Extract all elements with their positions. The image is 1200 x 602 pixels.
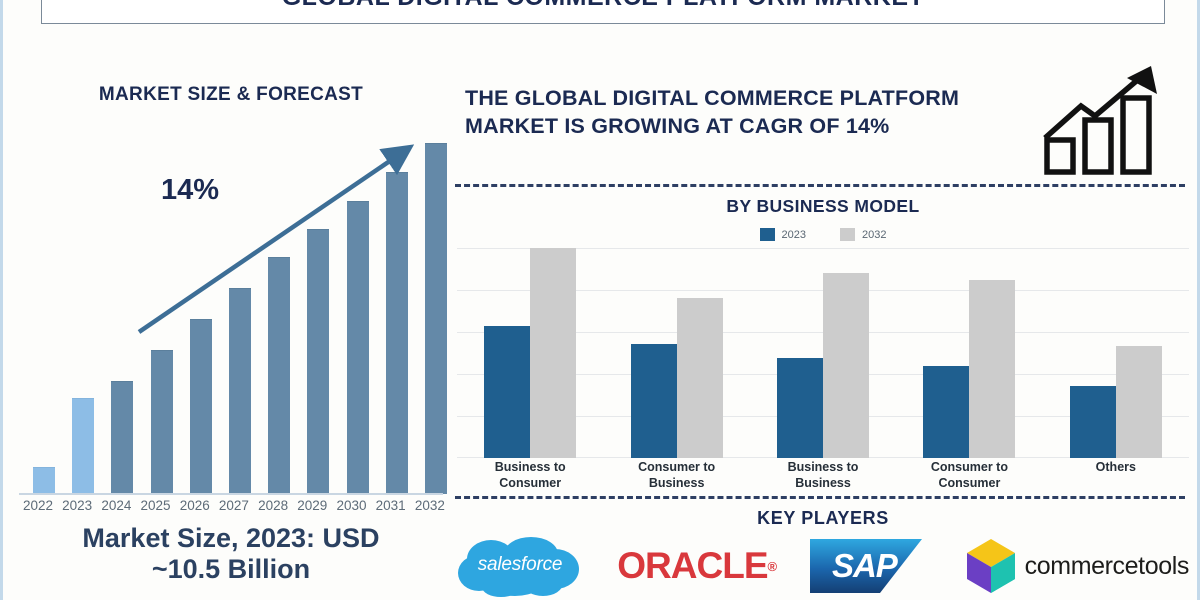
market-size-line-1: Market Size, 2023: USD [82, 523, 379, 553]
commercetools-logo[interactable]: commercetools [965, 535, 1189, 597]
market-size-bar-2026 [190, 319, 212, 494]
bar-group-consumer-to-consumer [896, 248, 1042, 458]
category-label-business-to-consumer: Business toConsumer [457, 460, 603, 491]
salesforce-logo[interactable]: salesforce [457, 535, 583, 597]
market-size-bar-2027 [229, 288, 251, 494]
key-players-logos: salesforce ORACLE® [451, 534, 1195, 598]
year-label-2025: 2025 [139, 498, 173, 518]
registered-trademark-icon: ® [768, 559, 777, 574]
bar-2032-business-to-business [823, 273, 869, 458]
bar-group-others [1043, 248, 1189, 458]
legend-label-2023: 2023 [782, 229, 806, 241]
year-label-2032: 2032 [413, 498, 447, 518]
year-label-2027: 2027 [217, 498, 251, 518]
growth-statement: THE GLOBAL DIGITAL COMMERCE PLATFORM MAR… [465, 84, 985, 141]
year-label-2026: 2026 [178, 498, 212, 518]
category-label-others: Others [1043, 460, 1189, 491]
market-size-callout: Market Size, 2023: USD ~10.5 Billion [11, 523, 451, 585]
bar-group-business-to-business [750, 248, 896, 458]
commercetools-cube-icon [965, 537, 1017, 595]
category-label-consumer-to-business: Consumer toBusiness [603, 460, 749, 491]
category-axis-labels: Business toConsumerConsumer toBusinessBu… [457, 460, 1189, 491]
bar-2023-others [1070, 386, 1116, 458]
oracle-wordmark: ORACLE [617, 545, 767, 587]
section-label-business-model: BY BUSINESS MODEL [451, 196, 1195, 217]
commercetools-wordmark: commercetools [1025, 552, 1189, 581]
title-box: GLOBAL DIGITAL COMMERCE PLATFORM MARKET [41, 0, 1165, 24]
legend-swatch-2023 [760, 228, 775, 241]
bar-2023-business-to-consumer [484, 326, 530, 458]
year-label-2030: 2030 [335, 498, 369, 518]
market-size-forecast-heading: MARKET SIZE & FORECAST [11, 84, 451, 106]
category-label-consumer-to-consumer: Consumer toConsumer [896, 460, 1042, 491]
market-size-bar-2029 [307, 229, 329, 494]
bar-group-business-to-consumer [457, 248, 603, 458]
key-players-label: KEY PLAYERS [451, 508, 1195, 529]
market-size-bar-2023 [72, 398, 94, 494]
bar-2032-business-to-consumer [530, 248, 576, 458]
year-label-2028: 2028 [256, 498, 290, 518]
market-size-bar-2032 [425, 143, 447, 494]
chart-baseline [19, 493, 443, 495]
legend-swatch-2032 [840, 228, 855, 241]
category-label-business-to-business: Business toBusiness [750, 460, 896, 491]
sap-wordmark: SAP [816, 539, 912, 593]
market-size-bar-2025 [151, 350, 173, 494]
market-size-bar-2028 [268, 257, 290, 494]
salesforce-wordmark: salesforce [457, 535, 583, 597]
year-label-2031: 2031 [374, 498, 408, 518]
year-label-2024: 2024 [99, 498, 133, 518]
business-model-panel: THE GLOBAL DIGITAL COMMERCE PLATFORM MAR… [451, 58, 1195, 598]
market-size-line-2: ~10.5 Billion [152, 554, 310, 584]
legend-item-2023[interactable]: 2023 [760, 228, 806, 241]
market-size-forecast-chart [21, 138, 447, 494]
business-model-chart [457, 248, 1189, 458]
year-axis-labels: 2022202320242025202620272028202920302031… [21, 498, 447, 518]
bar-2023-consumer-to-business [631, 344, 677, 458]
bar-chart-growth-icon [1029, 58, 1179, 178]
chart-legend: 20232032 [451, 228, 1195, 241]
bar-2032-others [1116, 346, 1162, 458]
infographic-canvas: GLOBAL DIGITAL COMMERCE PLATFORM MARKET … [0, 0, 1200, 600]
legend-item-2032[interactable]: 2032 [840, 228, 886, 241]
divider-top [455, 184, 1185, 187]
market-size-bar-2030 [347, 201, 369, 494]
bar-2032-consumer-to-consumer [969, 280, 1015, 458]
sap-logo[interactable]: SAP [810, 535, 930, 597]
oracle-logo[interactable]: ORACLE® [617, 535, 776, 597]
market-size-bar-2024 [111, 381, 133, 494]
market-size-bar-2031 [386, 172, 408, 494]
bar-2023-business-to-business [777, 358, 823, 458]
bar-2032-consumer-to-business [677, 298, 723, 458]
year-label-2029: 2029 [295, 498, 329, 518]
market-size-bar-group [33, 138, 447, 494]
market-size-forecast-panel: MARKET SIZE & FORECAST 14% 2022202320242… [11, 58, 451, 594]
grouped-bar-group [457, 248, 1189, 458]
year-label-2022: 2022 [21, 498, 55, 518]
legend-label-2032: 2032 [862, 229, 886, 241]
bar-2023-consumer-to-consumer [923, 366, 969, 458]
year-label-2023: 2023 [60, 498, 94, 518]
divider-bottom [455, 496, 1185, 499]
bar-group-consumer-to-business [603, 248, 749, 458]
market-size-bar-2022 [33, 467, 55, 494]
page-title: GLOBAL DIGITAL COMMERCE PLATFORM MARKET [282, 0, 925, 12]
